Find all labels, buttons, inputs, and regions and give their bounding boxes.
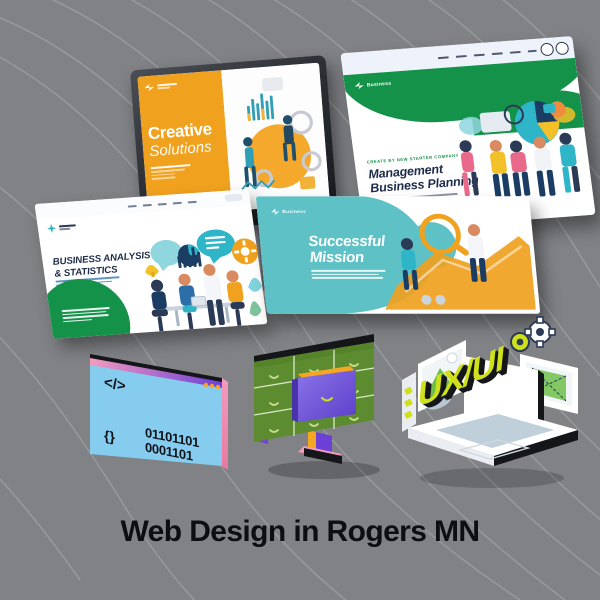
creative-headline-2: Solutions: [149, 139, 222, 160]
brand-logo: [144, 79, 216, 92]
brand-name: Business: [282, 209, 306, 214]
chrome-button-1[interactable]: [540, 43, 555, 57]
code-brace-glyph: {}: [104, 427, 115, 445]
logo-mark-icon: [354, 82, 364, 90]
logo-wordmark: [59, 224, 77, 231]
brand-logo: Business: [271, 208, 306, 215]
chrome-button-2[interactable]: [555, 41, 570, 55]
code-window: </> {} 01101101 0001101: [86, 352, 228, 476]
screen-business-analysis: BUSINESS ANALYSIS & STATISTICS: [35, 189, 268, 339]
card-title: Successful Mission: [308, 234, 388, 265]
brand-logo: [46, 222, 76, 233]
logo-mark-icon: [271, 208, 280, 215]
office-illustration: [126, 217, 267, 339]
cabinet-shape: [246, 322, 402, 482]
uxui-laptop-scene: UX/UI: [392, 306, 588, 492]
title-line-2: Mission: [309, 249, 365, 266]
badge-text: [62, 307, 112, 324]
slide-card: Business Successful Mission: [256, 196, 541, 313]
title-line-1: Successful: [307, 233, 385, 250]
page-title: Web Design in Rogers MN: [0, 515, 600, 549]
poster-canvas: Creative Solutions: [0, 0, 600, 600]
mission-illustration: [375, 200, 536, 309]
chrome-button[interactable]: [224, 194, 243, 202]
code-window-shape: [86, 352, 228, 476]
logo-wordmark: [157, 83, 177, 90]
creative-illustration: [221, 63, 330, 211]
file-cabinet-monitor: [246, 322, 402, 482]
creative-subtext: [151, 162, 223, 180]
browser-window: BUSINESS ANALYSIS & STATISTICS: [35, 189, 268, 339]
logo-mark-icon: [144, 84, 155, 92]
page-body: BUSINESS ANALYSIS & STATISTICS: [37, 205, 268, 339]
brand-name: Business: [366, 80, 391, 88]
logo-mark-icon: [46, 224, 56, 234]
body-paragraph: [311, 270, 386, 281]
screen-successful-mission: Business Successful Mission: [256, 196, 541, 313]
